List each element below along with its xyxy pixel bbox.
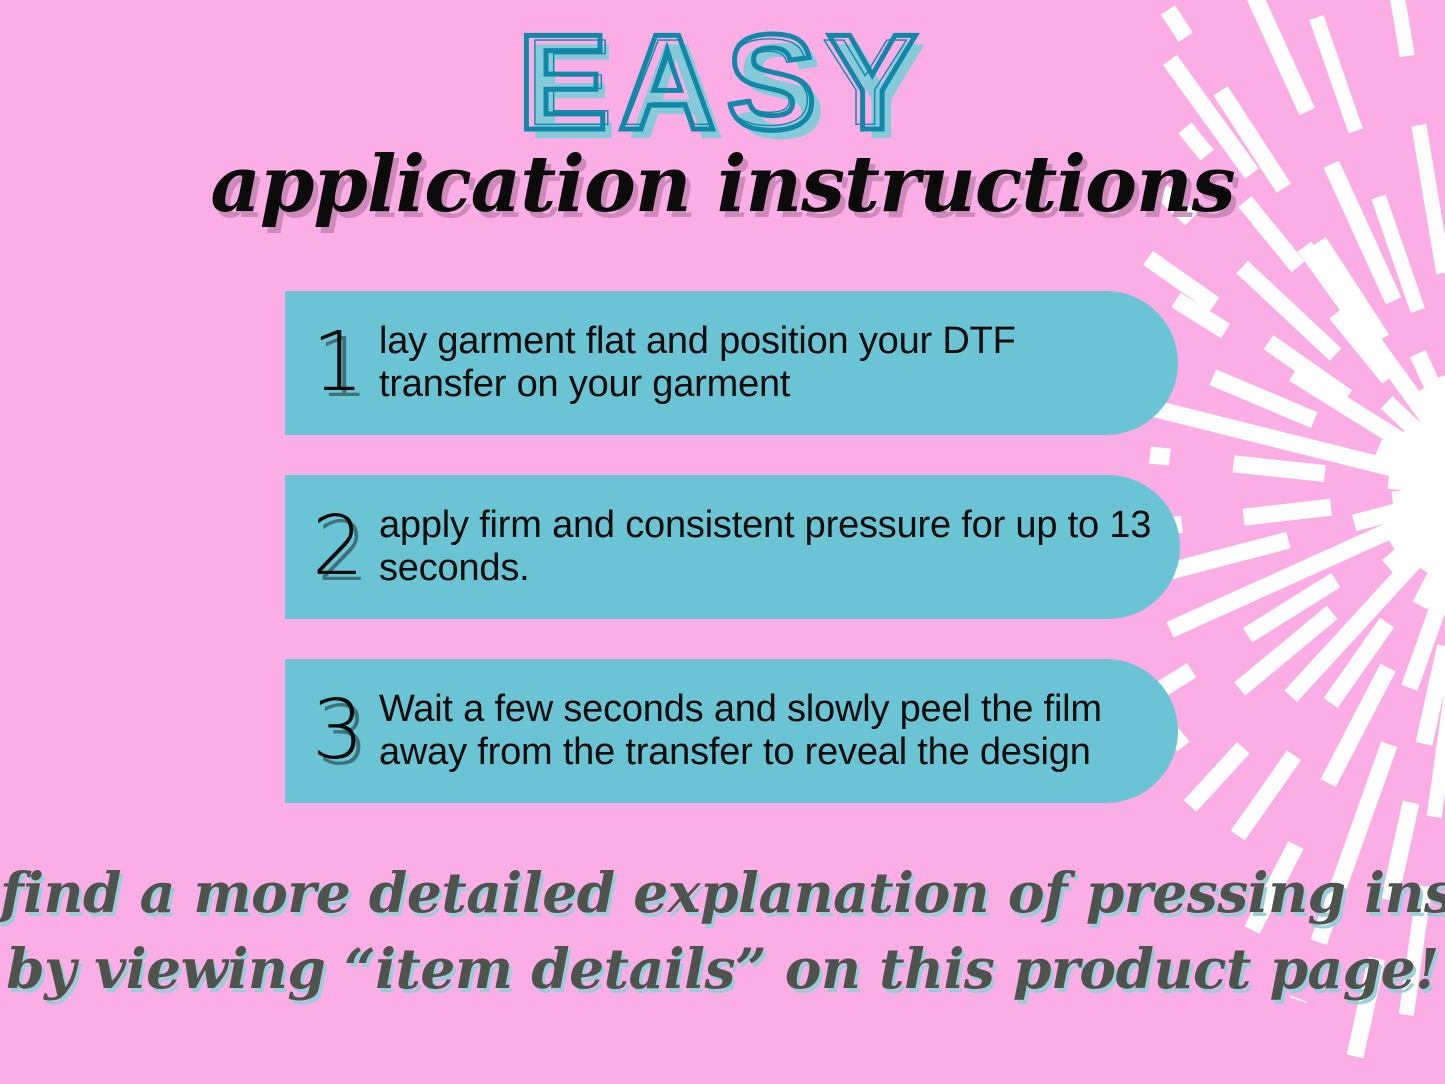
- step-number-3: 3: [299, 690, 377, 772]
- step-item-2: 2 apply firm and consistent pressure for…: [285, 475, 1180, 619]
- step-text-2: apply firm and consistent pressure for u…: [379, 504, 1180, 591]
- step-number-1: 1: [299, 322, 377, 404]
- footer-line-2: by viewing “item details” on this produc…: [0, 931, 1445, 1007]
- step-item-1: 1 lay garment flat and position your DTF…: [285, 291, 1178, 435]
- steps-list: 1 lay garment flat and position your DTF…: [285, 291, 1185, 803]
- instruction-graphic: EASY application instructions 1 lay garm…: [0, 0, 1445, 1084]
- footer-note: find a more detailed explanation of pres…: [0, 855, 1445, 1007]
- page-title-easy: EASY: [517, 14, 927, 150]
- step-text-1: lay garment flat and position your DTF t…: [379, 320, 1178, 407]
- step-item-3: 3 Wait a few seconds and slowly peel the…: [285, 659, 1178, 803]
- step-number-2: 2: [299, 506, 377, 588]
- step-text-3: Wait a few seconds and slowly peel the f…: [379, 688, 1178, 775]
- footer-line-1: find a more detailed explanation of pres…: [0, 855, 1445, 931]
- headline-block: EASY application instructions: [0, 0, 1445, 227]
